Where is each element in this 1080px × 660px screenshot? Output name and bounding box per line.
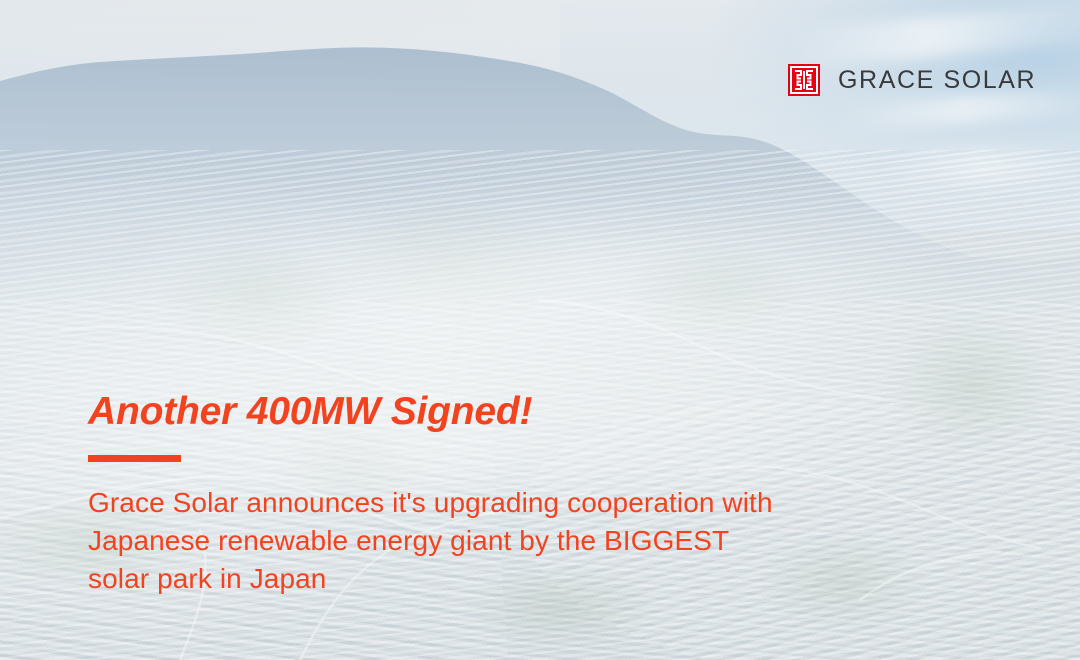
body-line-3: solar park in Japan: [88, 560, 888, 598]
body-line-2: Japanese renewable energy giant by the B…: [88, 522, 888, 560]
body-line-1: Grace Solar announces it's upgrading coo…: [88, 484, 888, 522]
grace-solar-logo-icon: [788, 64, 820, 96]
brand-name: GRACE SOLAR: [838, 68, 1036, 93]
red-rule-divider: [88, 455, 181, 462]
body-copy: Grace Solar announces it's upgrading coo…: [88, 484, 888, 598]
copy-block: Another 400MW Signed! Grace Solar announ…: [88, 392, 888, 598]
headline: Another 400MW Signed!: [88, 392, 888, 433]
promo-banner: GRACE SOLAR Another 400MW Signed! Grace …: [0, 0, 1080, 660]
brand-logo: GRACE SOLAR: [788, 64, 1036, 96]
